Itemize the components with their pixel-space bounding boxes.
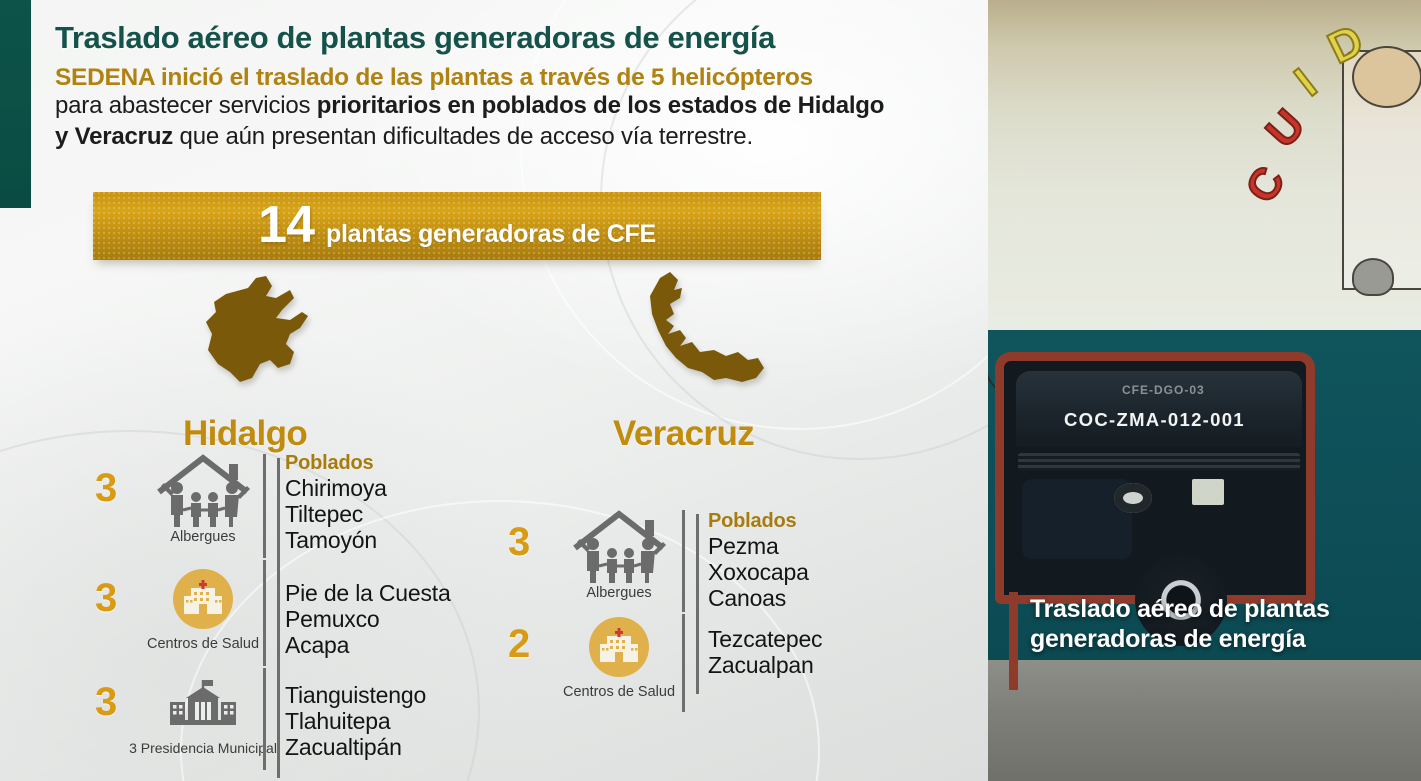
group-count: 3 [95, 452, 143, 508]
infographic-panel: Traslado aéreo de plantas generadoras de… [0, 0, 988, 781]
icon-label: 3 Presidencia Municipal [129, 740, 277, 756]
group-count: 2 [508, 612, 556, 664]
banner-inner: 14 plantas generadoras de CFE [258, 195, 656, 255]
teal-accent-bar [0, 0, 31, 208]
banner-count: 14 [258, 195, 314, 255]
subtitle-line-3-plain: que aún presentan dificultades de acceso… [173, 123, 753, 150]
icon-column: Albergues [556, 508, 682, 612]
towns-column: Poblados Chirimoya Tiltepec Tamoyón [263, 452, 515, 558]
health-center-hospital-icon [588, 616, 650, 678]
state-name-hidalgo: Hidalgo [183, 414, 307, 454]
subtitle-line-2-plain: para abastecer servicios [55, 92, 317, 119]
generator-vents [1018, 453, 1300, 471]
count-column: 2 [508, 612, 556, 712]
subtitle-line-2-bold: prioritarios en poblados de los estados … [317, 92, 884, 119]
group-count: 3 [508, 508, 556, 562]
icon-label: Centros de Salud [147, 636, 259, 652]
subtitle-line-2: para abastecer servicios prioritarios en… [55, 91, 975, 121]
mural-letter-i: I [1286, 60, 1326, 107]
icon-label: Albergues [170, 529, 235, 545]
icon-column: 3 Presidencia Municipal [143, 666, 263, 770]
state-group: 3 [95, 452, 515, 558]
banner-label: plantas generadoras de CFE [326, 220, 656, 249]
subtitle-line-3: y Veracruz que aún presentan dificultade… [55, 122, 975, 152]
towns-column: Pie de la Cuesta Pemuxco Acapa [263, 558, 515, 666]
video-panel[interactable]: C U I D CFE-DGO-03 COC-ZMA-012-001 Trasl… [988, 0, 1421, 781]
town-name: Canoas [708, 585, 928, 611]
veracruz-map-shape [630, 268, 780, 396]
state-block-veracruz: 3 [508, 508, 928, 712]
state-group: 3 [508, 508, 928, 612]
group-count: 3 [95, 558, 143, 618]
mural-letter-u: U [1257, 100, 1315, 157]
icon-label: Albergues [586, 585, 651, 601]
poblados-header: Poblados [285, 452, 515, 475]
town-name: Pemuxco [285, 606, 515, 632]
towns-column: Poblados Pezma Xoxocapa Canoas [682, 508, 928, 612]
state-group: 3 [95, 558, 515, 666]
towns-column: Tianguistengo Tlahuitepa Zacualtipán [263, 666, 515, 770]
header-block: Traslado aéreo de plantas generadoras de… [55, 22, 975, 152]
page-title: Traslado aéreo de plantas generadoras de… [55, 22, 975, 55]
shelter-house-family-icon [567, 508, 671, 584]
town-name: Chirimoya [285, 475, 515, 501]
generator-control-box [1192, 479, 1224, 505]
town-name: Xoxocapa [708, 559, 928, 585]
wall-mural: C U I D [1256, 8, 1421, 338]
icon-column: Albergues [143, 452, 263, 558]
icon-label: Centros de Salud [563, 684, 675, 700]
generator-leg [1009, 592, 1018, 690]
hidalgo-map-shape [190, 272, 330, 392]
generator-top-cover: CFE-DGO-03 COC-ZMA-012-001 [1016, 371, 1302, 447]
town-name: Zacualpan [708, 652, 928, 678]
state-group: 3 [95, 666, 515, 770]
video-caption: Traslado aéreo de plantas generadoras de… [1030, 595, 1370, 654]
town-name: Tezcatepec [708, 626, 928, 652]
icon-column: Centros de Salud [556, 612, 682, 712]
town-name: Tiltepec [285, 501, 515, 527]
town-name: Pezma [708, 533, 928, 559]
plants-count-banner: 14 plantas generadoras de CFE [93, 192, 821, 260]
subtitle-line-3-bold: y Veracruz [55, 123, 173, 150]
count-column: 3 [95, 452, 143, 558]
mural-figure-foot [1352, 258, 1394, 296]
town-name: Zacualtipán [285, 734, 515, 760]
state-name-veracruz: Veracruz [613, 414, 754, 454]
poblados-header: Poblados [708, 510, 928, 533]
town-name: Tianguistengo [285, 682, 515, 708]
municipal-building-icon [164, 676, 242, 730]
group-count: 3 [95, 666, 143, 722]
generator-air-filter [1114, 483, 1152, 513]
count-column: 3 [95, 558, 143, 666]
state-block-hidalgo: 3 [95, 452, 515, 770]
icon-column: Centros de Salud [143, 558, 263, 666]
count-column: 3 [508, 508, 556, 612]
town-name: Tlahuitepa [285, 708, 515, 734]
shelter-house-family-icon [151, 452, 255, 528]
town-name: Tamoyón [285, 527, 515, 553]
town-name: Acapa [285, 632, 515, 658]
subtitle-highlight: SEDENA inició el traslado de las plantas… [55, 64, 975, 91]
generator-code-top: CFE-DGO-03 [1122, 383, 1205, 397]
screen: Traslado aéreo de plantas generadoras de… [0, 0, 1421, 781]
state-group: 2 [508, 612, 928, 712]
generator-code-main: COC-ZMA-012-001 [1064, 409, 1245, 431]
health-center-hospital-icon [172, 568, 234, 630]
town-name: Pie de la Cuesta [285, 580, 515, 606]
towns-column: Tezcatepec Zacualpan [682, 612, 928, 712]
